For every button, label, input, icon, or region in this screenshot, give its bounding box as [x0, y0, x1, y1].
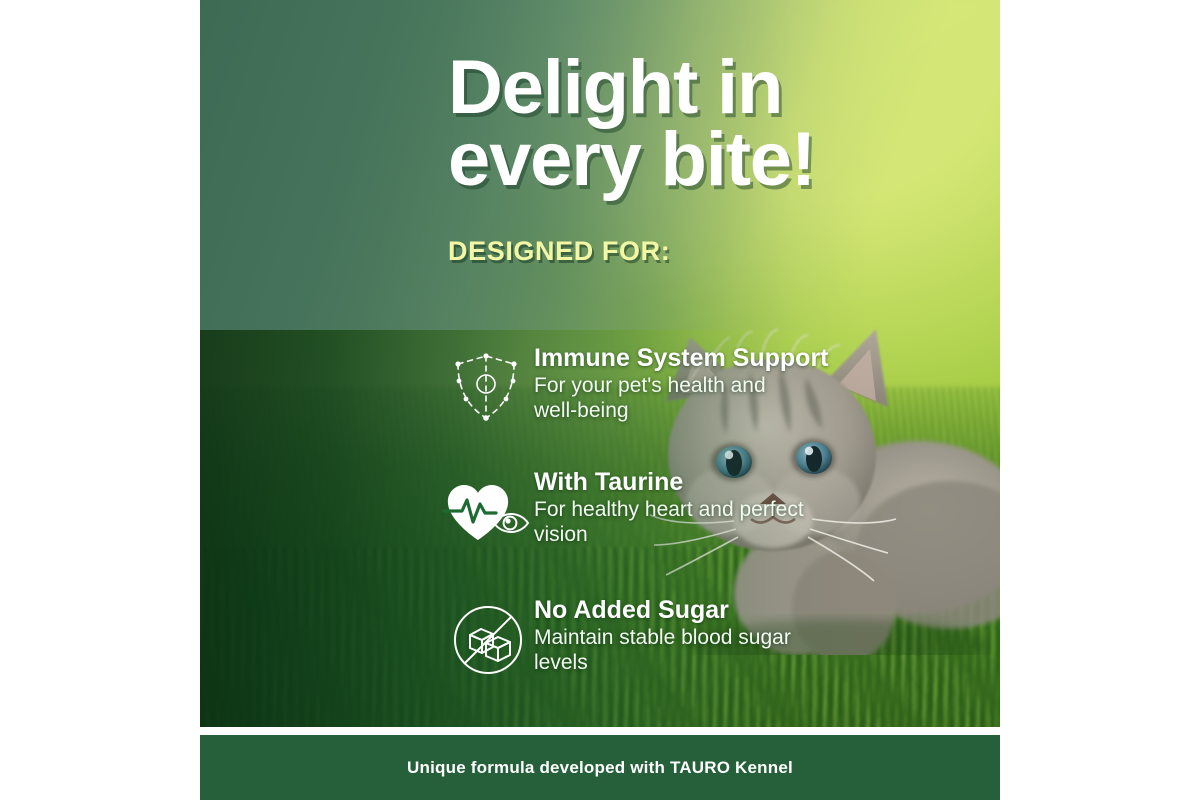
feature-description: For healthy heart and perfect vision	[534, 498, 918, 548]
feature-description: Maintain stable blood sugar levels	[534, 626, 918, 676]
footer-note: Unique formula developed with TAURO Kenn…	[407, 758, 793, 778]
page-title: Delight in every bite!	[448, 52, 968, 196]
no-sugar-icon	[450, 602, 526, 678]
heart-eye-icon	[442, 480, 534, 544]
promo-banner: Delight in every bite! DESIGNED FOR:	[0, 0, 1200, 800]
kicker-label: DESIGNED FOR:	[448, 236, 670, 267]
feature-description: For your pet's health and well-being	[534, 374, 918, 424]
feature-item-no-added-sugar: No Added Sugar Maintain stable blood sug…	[448, 596, 918, 702]
shield-icon	[448, 348, 524, 424]
feature-title: Immune System Support	[534, 344, 918, 373]
feature-item-immune-support: Immune System Support For your pet's hea…	[448, 344, 918, 450]
feature-list: Immune System Support For your pet's hea…	[448, 344, 918, 716]
feature-title: With Taurine	[534, 468, 918, 497]
footer-banner: Unique formula developed with TAURO Kenn…	[200, 735, 1000, 800]
feature-item-taurine: With Taurine For healthy heart and perfe…	[448, 468, 918, 574]
hero-photo: Delight in every bite! DESIGNED FOR:	[200, 0, 1000, 727]
feature-title: No Added Sugar	[534, 596, 918, 625]
